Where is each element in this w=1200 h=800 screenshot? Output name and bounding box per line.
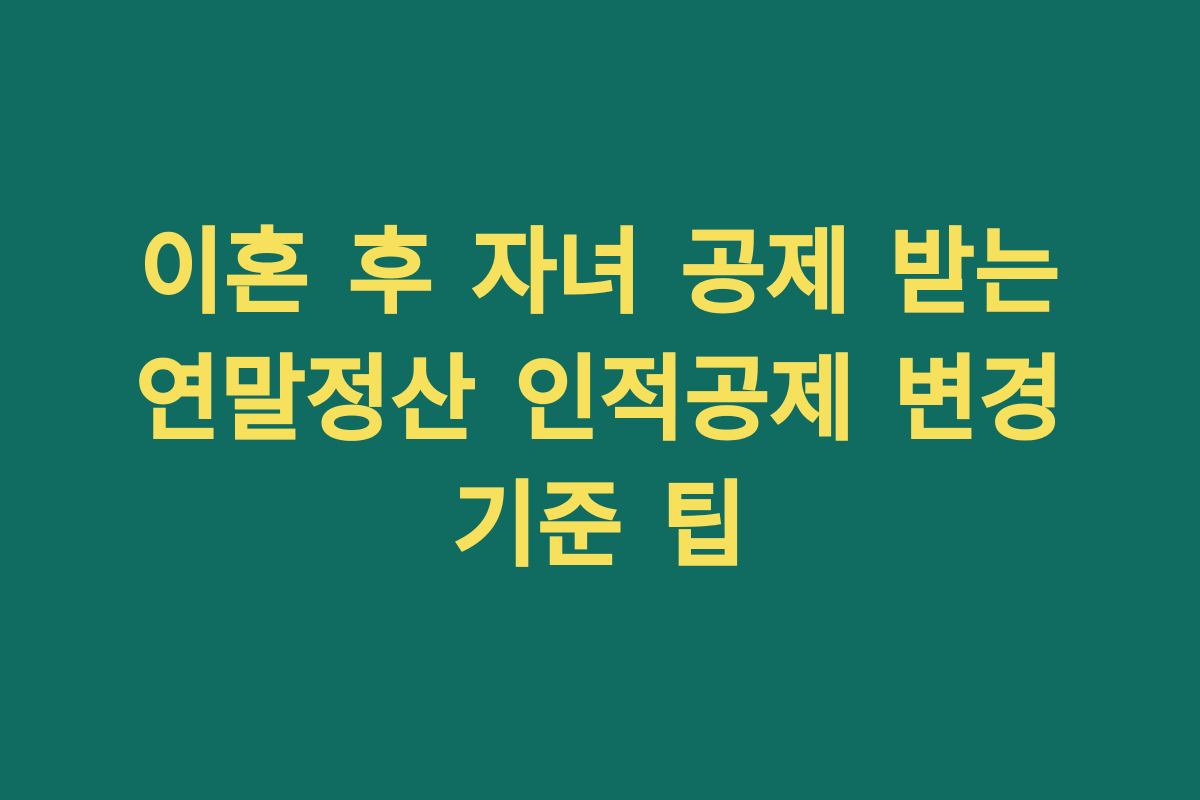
headline-line-3: 기준 팁 xyxy=(70,463,1130,590)
headline-line-2: 연말정산 인적공제 변경 xyxy=(70,337,1130,464)
page-title: 이혼 후 자녀 공제 받는 연말정산 인적공제 변경 기준 팁 xyxy=(70,210,1130,591)
title-card: 이혼 후 자녀 공제 받는 연말정산 인적공제 변경 기준 팁 xyxy=(0,0,1200,800)
headline-line-1: 이혼 후 자녀 공제 받는 xyxy=(70,210,1130,337)
